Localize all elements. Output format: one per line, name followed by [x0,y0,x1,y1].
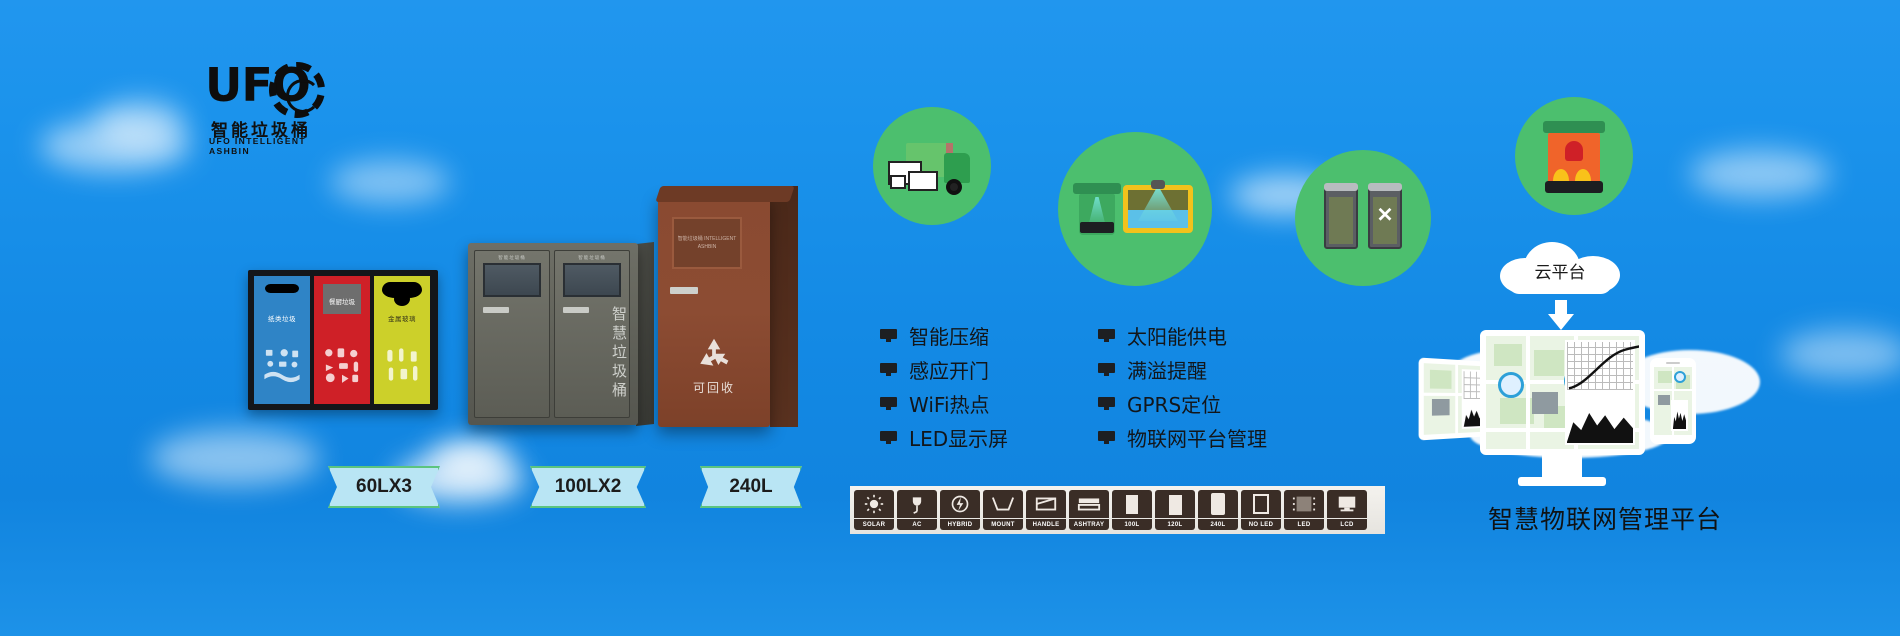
monitor-bullet-icon [1098,329,1115,342]
feature-label: GPRS定位 [1127,389,1221,418]
bin-cell-label: 金属玻璃 [374,313,430,323]
spec-solar: SOLAR [854,490,894,530]
bin-display-screen: 餐厨垃圾 [321,282,363,316]
feature-circle-fill-level [1058,132,1212,286]
feature-label: 感应开门 [909,355,989,384]
lcd-icon [1327,490,1367,518]
line-chart-curve [1567,342,1639,390]
led-icon [1284,490,1324,518]
waste-slot-icon [382,282,422,298]
cloud-decor [95,100,185,148]
ashtray-icon [1069,490,1109,518]
feature-item: 感应开门 [880,352,1008,386]
bin-cell-metal-glass: 金属玻璃 [374,276,430,404]
monitor-bullet-icon [1098,363,1115,376]
bin-side-panel [636,242,654,426]
bin-cell-top: 纸类垃圾 [254,276,310,328]
feature-label: WiFi热点 [909,389,990,418]
bin-door-caption: 智能垃圾桶 [555,255,629,261]
waste-slot-icon [265,284,299,293]
cloud-decor [430,440,510,480]
garbage-truck-icon [873,107,991,225]
feature-label: 物联网平台管理 [1127,423,1267,452]
spec-240l: 240L [1198,490,1238,530]
cloud-decor [330,160,450,204]
monitor-bullet-icon [880,431,897,444]
monitor-base [1518,477,1606,486]
bin-cell-body [374,328,430,404]
cloud-decor [40,120,190,172]
feature-list-column-right: 太阳能供电 满溢提醒 GPRS定位 物联网平台管理 [1098,318,1267,454]
feature-label: 太阳能供电 [1127,321,1227,350]
bin-cell-kitchen: 餐厨垃圾 [314,276,370,404]
spec-ashtray: ASHTRAY [1069,490,1109,530]
feature-item: 太阳能供电 [1098,318,1267,352]
bin-display-screen [563,263,621,297]
building-icon [1532,392,1558,414]
feature-label: 智能压缩 [909,321,989,350]
download-arrow-icon [1548,300,1574,330]
device-desktop-monitor [1480,330,1645,455]
monitor-bullet-icon [880,397,897,410]
hybrid-power-icon [940,490,980,518]
spec-mount: MOUNT [983,490,1023,530]
spec-100l: 100L [1112,490,1152,530]
spec-lcd: LCD [1327,490,1367,530]
spec-hybrid: HYBRID [940,490,980,530]
bin-lid [655,186,794,202]
spec-120l: 120L [1155,490,1195,530]
bin-vertical-text: 智慧垃圾桶 [612,305,632,400]
spec-label: NO LED [1241,519,1281,530]
feature-item: GPRS定位 [1098,386,1267,420]
feature-circle-collection [873,107,991,225]
capacity-badge-100lx2: 100LX2 [530,466,646,508]
feature-label: 满溢提醒 [1127,355,1207,384]
bin-handle-icon [483,307,509,313]
feature-item: 智能压缩 [880,318,1008,352]
spec-label: HYBRID [940,519,980,530]
metal-glass-pictogram-icon [380,344,424,388]
capacity-badge-60lx3: 60LX3 [328,466,440,508]
bin-panel-caption: 智能垃圾桶 INTELLIGENT ASHBIN [674,235,740,251]
spec-no-led: NO LED [1241,490,1281,530]
cloud-platform-label: 云平台 [1500,258,1620,283]
bin-cell-paper: 纸类垃圾 [254,276,310,404]
bin-cell-body [314,328,370,404]
logo-english-name: UFO INTELLIGENT ASHBIN [209,136,325,156]
brand-logo: UFO 智能垃圾桶 UFO INTELLIGENT ASHBIN [205,58,325,150]
bin-cell-body [254,328,310,404]
spec-led: LED [1284,490,1324,530]
mount-icon [983,490,1023,518]
monitor-bullet-icon [880,363,897,376]
monitor-screen [1486,336,1639,449]
handle-icon [1026,490,1066,518]
map-marker-icon [1498,372,1524,398]
monitor-bullet-icon [1098,431,1115,444]
bin-handle-icon [670,287,698,294]
feature-item: 物联网平台管理 [1098,420,1267,454]
product-bin-triple: 纸类垃圾 餐厨垃圾 [248,270,438,410]
cloud-platform-badge: 云平台 [1500,242,1620,294]
bin-cell-top: 餐厨垃圾 [314,276,370,328]
cloud-decor [1690,150,1830,198]
bin-recycle-label: 可回收 [658,379,770,396]
spec-label: ASHTRAY [1069,519,1109,530]
chart-graphic [1671,400,1688,431]
spec-label: SOLAR [854,519,894,530]
spec-ac: AC [897,490,937,530]
bin-door-caption: 智能垃圾桶 [475,255,549,261]
feature-circle-compaction: ✕ [1295,150,1431,286]
device-smartphone [1650,358,1696,444]
product-bin-duo: 智能垃圾桶 智能垃圾桶 智慧垃圾桶 [468,243,638,425]
spec-label: 120L [1155,519,1195,530]
bin-display-panel: 智能垃圾桶 INTELLIGENT ASHBIN [672,217,742,269]
spec-label: 100L [1112,519,1152,530]
bin-door-left: 智能垃圾桶 [474,250,550,418]
no-led-icon [1241,490,1281,518]
fire-alarm-icon [1515,97,1633,215]
bin-side-panel [770,186,798,427]
spec-handle: HANDLE [1026,490,1066,530]
chart-graphic [1565,340,1635,445]
ufo-ring-icon [269,62,325,118]
bin-cell-label: 纸类垃圾 [254,313,310,323]
feature-list-column-left: 智能压缩 感应开门 WiFi热点 LED显示屏 [880,318,1008,454]
spec-label: MOUNT [983,519,1023,530]
feature-item: WiFi热点 [880,386,1008,420]
bin-240l-icon [1198,490,1238,518]
kitchen-waste-pictogram-icon [320,344,364,388]
feature-circle-fire-alarm [1515,97,1633,215]
phone-screen [1654,367,1692,435]
bin-120l-icon [1155,490,1195,518]
bin-handle-icon [563,307,589,313]
spec-label: LED [1284,519,1324,530]
feature-label: LED显示屏 [909,423,1008,452]
plug-icon [897,490,937,518]
fill-level-sensor-icon [1058,132,1212,286]
compaction-bins-icon: ✕ [1295,150,1431,286]
spec-label: HANDLE [1026,519,1066,530]
feature-item: LED显示屏 [880,420,1008,454]
product-bin-240l: 智能垃圾桶 INTELLIGENT ASHBIN 可回收 [658,195,770,427]
sun-icon [854,490,894,518]
bin-100l-icon [1112,490,1152,518]
phone-speaker [1666,362,1680,364]
cloud-decor [150,430,320,486]
monitor-bullet-icon [1098,397,1115,410]
spec-icon-strip: SOLAR AC HYBRID MOUNT [850,486,1385,534]
platform-title: 智慧物联网管理平台 [1488,500,1722,536]
spec-label: AC [897,519,937,530]
recycle-symbol-icon [693,335,735,375]
feature-item: 满溢提醒 [1098,352,1267,386]
monitor-stand [1542,455,1582,477]
spec-label: 240L [1198,519,1238,530]
paper-waste-pictogram-icon [260,344,304,388]
product-banner: UFO 智能垃圾桶 UFO INTELLIGENT ASHBIN 纸类垃圾 [0,0,1900,636]
bin-display-screen [483,263,541,297]
cloud-decor [1780,330,1900,378]
bin-cell-label: 餐厨垃圾 [323,296,361,306]
monitor-bullet-icon [880,329,897,342]
bin-cell-top: 金属玻璃 [374,276,430,328]
spec-label: LCD [1327,519,1367,530]
capacity-badge-240l: 240L [700,466,802,508]
